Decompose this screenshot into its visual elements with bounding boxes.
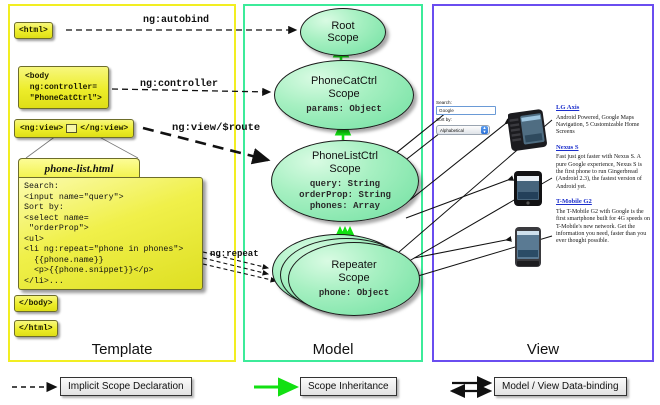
list-item: Nexus S Fast just got faster with Nexus … [556,144,650,192]
sort-label: Sort by: [436,117,498,123]
legend-item-scope-inheritance: Scope Inheritance [300,377,397,396]
phone-thumbnail-tmobile-g2 [508,226,550,275]
legend: Implicit Scope Declaration Scope Inherit… [0,370,660,405]
code-chip-html-close: </html> [14,320,58,337]
code-chip-html-open: <html> [14,22,53,39]
scope-phonecatctrl-title1: PhoneCatCtrl [311,75,377,87]
panel-template-label: Template [10,341,234,358]
panel-view-label: View [434,341,652,358]
phone-link-nexus-s[interactable]: Nexus S [556,144,650,152]
phone-thumbnail-lg-axis [508,108,550,157]
panel-model-label: Model [245,341,421,358]
scope-phonelistctrl-props: query: String orderProp: String phones: … [299,179,391,212]
phone-link-lg-axis[interactable]: LG Axis [556,104,650,112]
scope-phonelistctrl-title1: PhoneListCtrl [312,150,378,162]
scope-phonecatctrl: PhoneCatCtrl Scope params: Object [274,60,414,130]
list-item: T-Mobile G2 The T-Mobile G2 with Google … [556,198,650,246]
connector-label-repeat: ng:repeat [210,249,259,259]
phone-thumbnail-strip [508,108,550,288]
phone-snippet-nexus-s: Fast just got faster with Nexus S. A pur… [556,154,650,191]
search-input[interactable]: Google [436,106,496,115]
scope-phonecatctrl-title2: Scope [328,88,359,100]
scope-repeater-title1: Repeater [331,259,376,271]
sort-select[interactable]: Alphabetical ▲▼ [436,125,490,135]
sort-select-value: Alphabetical [440,128,464,133]
scope-root-title1: Root [331,20,354,32]
diagram-canvas: Template Model View [0,0,660,405]
phone-list-code-body: Search: <input name="query"> Sort by: <s… [18,177,203,290]
scope-root-title2: Scope [327,32,358,44]
phone-list-filename-tab: phone-list.html [18,158,140,179]
scope-repeater-title2: Scope [338,272,369,284]
connector-label-autobind: ng:autobind [143,15,209,26]
phone-link-tmobile-g2[interactable]: T-Mobile G2 [556,198,650,206]
connector-label-controller: ng:controller [140,79,218,90]
phone-list-template-card: phone-list.html Search: <input name="que… [18,158,203,290]
legend-item-model-view-data-binding: Model / View Data-binding [494,377,627,396]
scope-phonecatctrl-props: params: Object [306,104,382,115]
scope-repeater-props: phone: Object [319,288,389,299]
ngview-open-tag: <ng:view> [20,123,63,134]
code-chip-body-open: <body ng:controller= "PhoneCatCtrl"> [18,66,109,109]
list-item: LG Axis Android Powered, Google Maps Nav… [556,104,650,137]
phone-list: LG Axis Android Powered, Google Maps Nav… [556,104,650,253]
phone-snippet-lg-axis: Android Powered, Google Maps Navigation,… [556,115,650,137]
connector-label-route: ng:view/$route [172,122,260,134]
ngview-close-tag: </ng:view> [80,123,128,134]
scope-root: Root Scope [300,8,386,56]
scope-repeater: Repeater Scope phone: Object [288,242,420,316]
scope-phonelistctrl: PhoneListCtrl Scope query: String orderP… [271,140,419,222]
legend-item-implicit-scope-declaration: Implicit Scope Declaration [60,377,192,396]
phone-snippet-tmobile-g2: The T-Mobile G2 with Google is the first… [556,209,650,246]
scope-phonelistctrl-title2: Scope [329,163,360,175]
ngview-placeholder-box [66,124,77,133]
code-chip-body-close: </body> [14,295,58,312]
view-search-form: Search: Google Sort by: Alphabetical ▲▼ [436,100,498,135]
chevron-updown-icon: ▲▼ [481,126,488,134]
phone-thumbnail-nexus-s [508,170,550,213]
code-chip-ngview: <ng:view> </ng:view> [14,119,134,138]
